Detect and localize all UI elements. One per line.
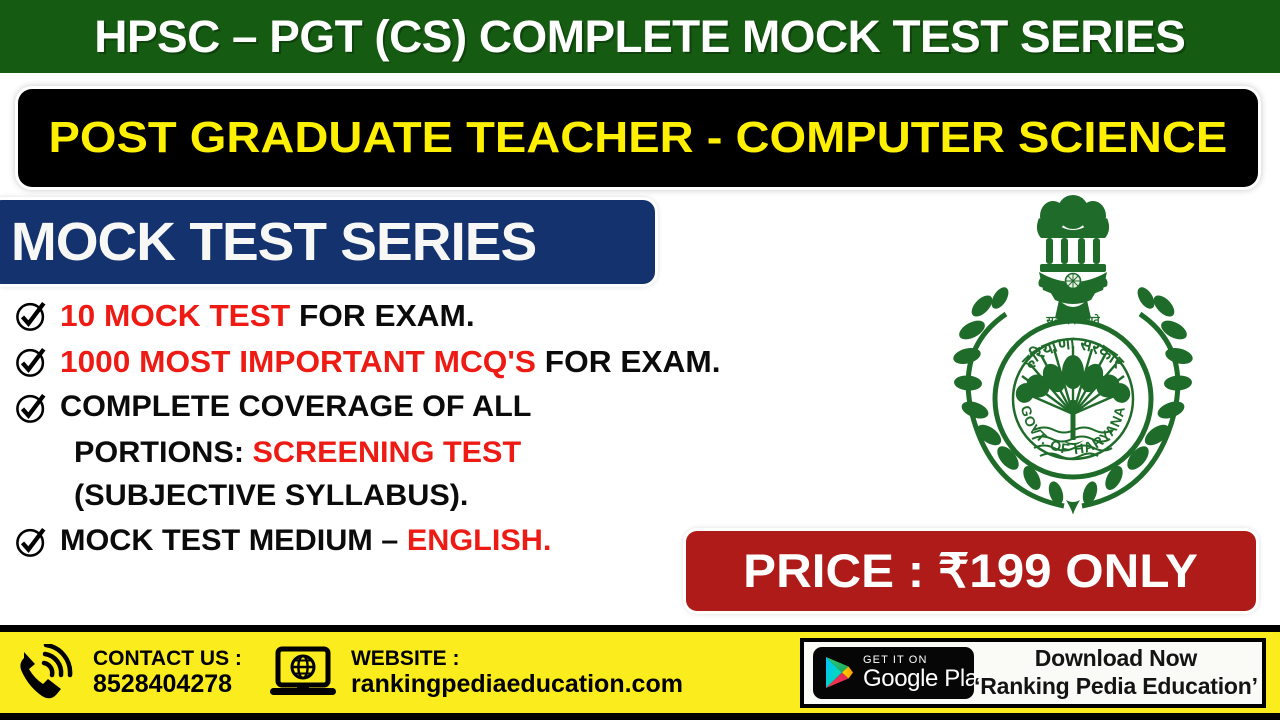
list-item-text: 1000 MOST IMPORTANT MCQ'S FOR EXAM. bbox=[60, 342, 720, 377]
list-item: 1000 MOST IMPORTANT MCQ'S FOR EXAM. bbox=[14, 342, 914, 379]
feature-portions-value: SCREENING TEST bbox=[253, 436, 522, 469]
list-item: COMPLETE COVERAGE OF ALL PORTIONS: SCREE… bbox=[14, 388, 914, 511]
section-banner-label: MOCK TEST SERIES bbox=[11, 211, 536, 273]
phone-ringing-icon bbox=[14, 644, 80, 702]
feature-medium-label: MOCK TEST MEDIUM – bbox=[60, 524, 407, 557]
govt-of-haryana-emblem: सत्यमेव जयते bbox=[948, 194, 1198, 514]
list-item-text: MOCK TEST MEDIUM – ENGLISH. bbox=[60, 522, 551, 556]
feature-highlight: 1000 MOST IMPORTANT MCQ'S bbox=[60, 344, 536, 379]
laptop-globe-icon bbox=[268, 645, 338, 701]
check-circle-icon bbox=[14, 345, 48, 379]
app-name-label: ‘Ranking Pedia Education’ bbox=[974, 673, 1258, 701]
check-circle-icon bbox=[14, 391, 48, 425]
feature-rest: FOR EXAM. bbox=[536, 344, 720, 379]
subtitle-box: POST GRADUATE TEACHER - COMPUTER SCIENCE bbox=[18, 89, 1258, 187]
check-circle-icon bbox=[14, 525, 48, 559]
feature-rest: FOR EXAM. bbox=[290, 298, 474, 333]
google-play-icon bbox=[824, 656, 854, 689]
price-badge: PRICE : ₹199 ONLY bbox=[686, 531, 1256, 611]
poster-root: HPSC – PGT (CS) COMPLETE MOCK TEST SERIE… bbox=[0, 0, 1280, 720]
contact-number[interactable]: 8528404278 bbox=[93, 670, 242, 698]
footer-bar: CONTACT US : 8528404278 WEBSITE : bbox=[0, 625, 1280, 720]
website-url[interactable]: rankingpediaeducation.com bbox=[351, 670, 683, 698]
feature-list: 10 MOCK TEST FOR EXAM. 1000 MOST IMPORTA… bbox=[14, 296, 914, 568]
contact-block: CONTACT US : 8528404278 bbox=[93, 647, 242, 699]
list-item-text: COMPLETE COVERAGE OF ALL bbox=[60, 388, 531, 422]
header-bar: HPSC – PGT (CS) COMPLETE MOCK TEST SERIE… bbox=[0, 0, 1280, 73]
google-play-badge[interactable]: GET IT ON Google Play bbox=[813, 647, 974, 699]
google-play-get-it-on: GET IT ON bbox=[863, 655, 989, 666]
page-title: HPSC – PGT (CS) COMPLETE MOCK TEST SERIE… bbox=[94, 11, 1185, 63]
section-banner: MOCK TEST SERIES bbox=[0, 200, 655, 284]
website-label: WEBSITE : bbox=[351, 647, 683, 671]
website-block: WEBSITE : rankingpediaeducation.com bbox=[351, 647, 683, 699]
price-text: PRICE : ₹199 ONLY bbox=[744, 543, 1199, 599]
contact-label: CONTACT US : bbox=[93, 647, 242, 671]
feature-portions-label: PORTIONS: bbox=[74, 436, 253, 469]
app-download-panel: GET IT ON Google Play Download Now ‘Rank… bbox=[800, 638, 1266, 708]
feature-highlight: 10 MOCK TEST bbox=[60, 298, 290, 333]
app-download-text: Download Now ‘Ranking Pedia Education’ bbox=[974, 645, 1258, 700]
download-now-label: Download Now bbox=[974, 645, 1258, 673]
subtitle-text: POST GRADUATE TEACHER - COMPUTER SCIENCE bbox=[49, 113, 1228, 163]
check-circle-icon bbox=[14, 299, 48, 333]
feature-medium-value: ENGLISH. bbox=[407, 524, 552, 557]
list-item-text: 10 MOCK TEST FOR EXAM. bbox=[60, 296, 475, 331]
google-play-wordmark: Google Play bbox=[863, 667, 989, 691]
list-item-subline: (SUBJECTIVE SYLLABUS). bbox=[74, 481, 931, 511]
list-item-subline: PORTIONS: SCREENING TEST bbox=[74, 438, 931, 468]
list-item: 10 MOCK TEST FOR EXAM. bbox=[14, 296, 914, 333]
